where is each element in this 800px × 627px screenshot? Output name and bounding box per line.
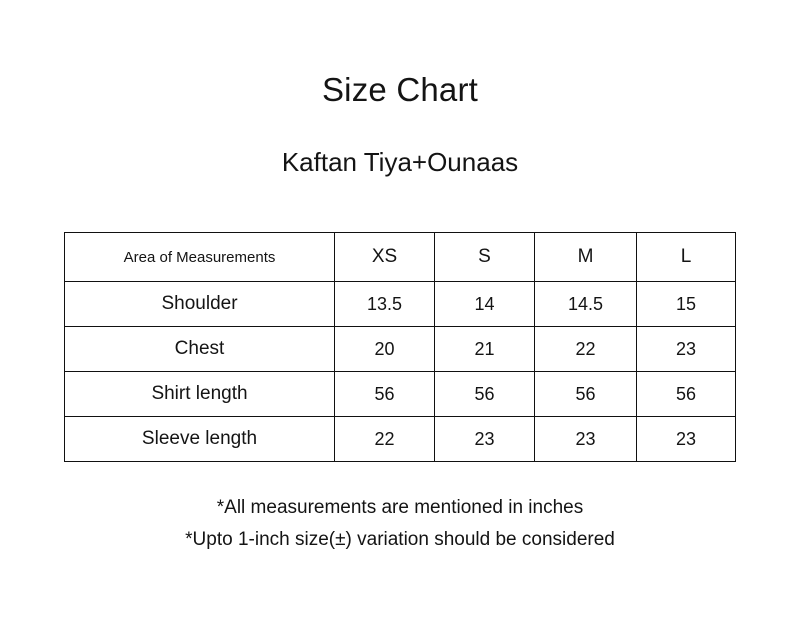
row-label-chest: Chest bbox=[65, 327, 335, 372]
column-header-xs: XS bbox=[335, 233, 435, 282]
page-title: Size Chart bbox=[0, 0, 800, 108]
table-row: Shirt length 56 56 56 56 bbox=[65, 372, 736, 417]
cell-sleeve-length-s: 23 bbox=[435, 417, 535, 462]
table-row: Chest 20 21 22 23 bbox=[65, 327, 736, 372]
cell-sleeve-length-xs: 22 bbox=[335, 417, 435, 462]
column-header-area-of-measurements: Area of Measurements bbox=[65, 233, 335, 282]
cell-shoulder-s: 14 bbox=[435, 282, 535, 327]
cell-sleeve-length-m: 23 bbox=[535, 417, 637, 462]
row-label-sleeve-length: Sleeve length bbox=[65, 417, 335, 462]
cell-chest-l: 23 bbox=[637, 327, 736, 372]
size-chart-table: Area of Measurements XS S M L Shoulder 1… bbox=[64, 232, 736, 462]
table-header-row: Area of Measurements XS S M L bbox=[65, 233, 736, 282]
product-subtitle: Kaftan Tiya+Ounaas bbox=[0, 108, 800, 177]
column-header-s: S bbox=[435, 233, 535, 282]
table-row: Sleeve length 22 23 23 23 bbox=[65, 417, 736, 462]
cell-shirt-length-l: 56 bbox=[637, 372, 736, 417]
cell-shirt-length-m: 56 bbox=[535, 372, 637, 417]
column-header-m: M bbox=[535, 233, 637, 282]
cell-sleeve-length-l: 23 bbox=[637, 417, 736, 462]
cell-shirt-length-s: 56 bbox=[435, 372, 535, 417]
size-chart-page: Size Chart Kaftan Tiya+Ounaas Area of Me… bbox=[0, 0, 800, 627]
cell-chest-m: 22 bbox=[535, 327, 637, 372]
footnote-units: *All measurements are mentioned in inche… bbox=[0, 492, 800, 524]
size-table-container: Area of Measurements XS S M L Shoulder 1… bbox=[64, 232, 735, 462]
footnotes: *All measurements are mentioned in inche… bbox=[0, 492, 800, 556]
row-label-shoulder: Shoulder bbox=[65, 282, 335, 327]
table-row: Shoulder 13.5 14 14.5 15 bbox=[65, 282, 736, 327]
cell-shirt-length-xs: 56 bbox=[335, 372, 435, 417]
cell-shoulder-l: 15 bbox=[637, 282, 736, 327]
cell-shoulder-xs: 13.5 bbox=[335, 282, 435, 327]
cell-chest-xs: 20 bbox=[335, 327, 435, 372]
column-header-l: L bbox=[637, 233, 736, 282]
cell-chest-s: 21 bbox=[435, 327, 535, 372]
cell-shoulder-m: 14.5 bbox=[535, 282, 637, 327]
footnote-variation: *Upto 1-inch size(±) variation should be… bbox=[0, 524, 800, 556]
row-label-shirt-length: Shirt length bbox=[65, 372, 335, 417]
